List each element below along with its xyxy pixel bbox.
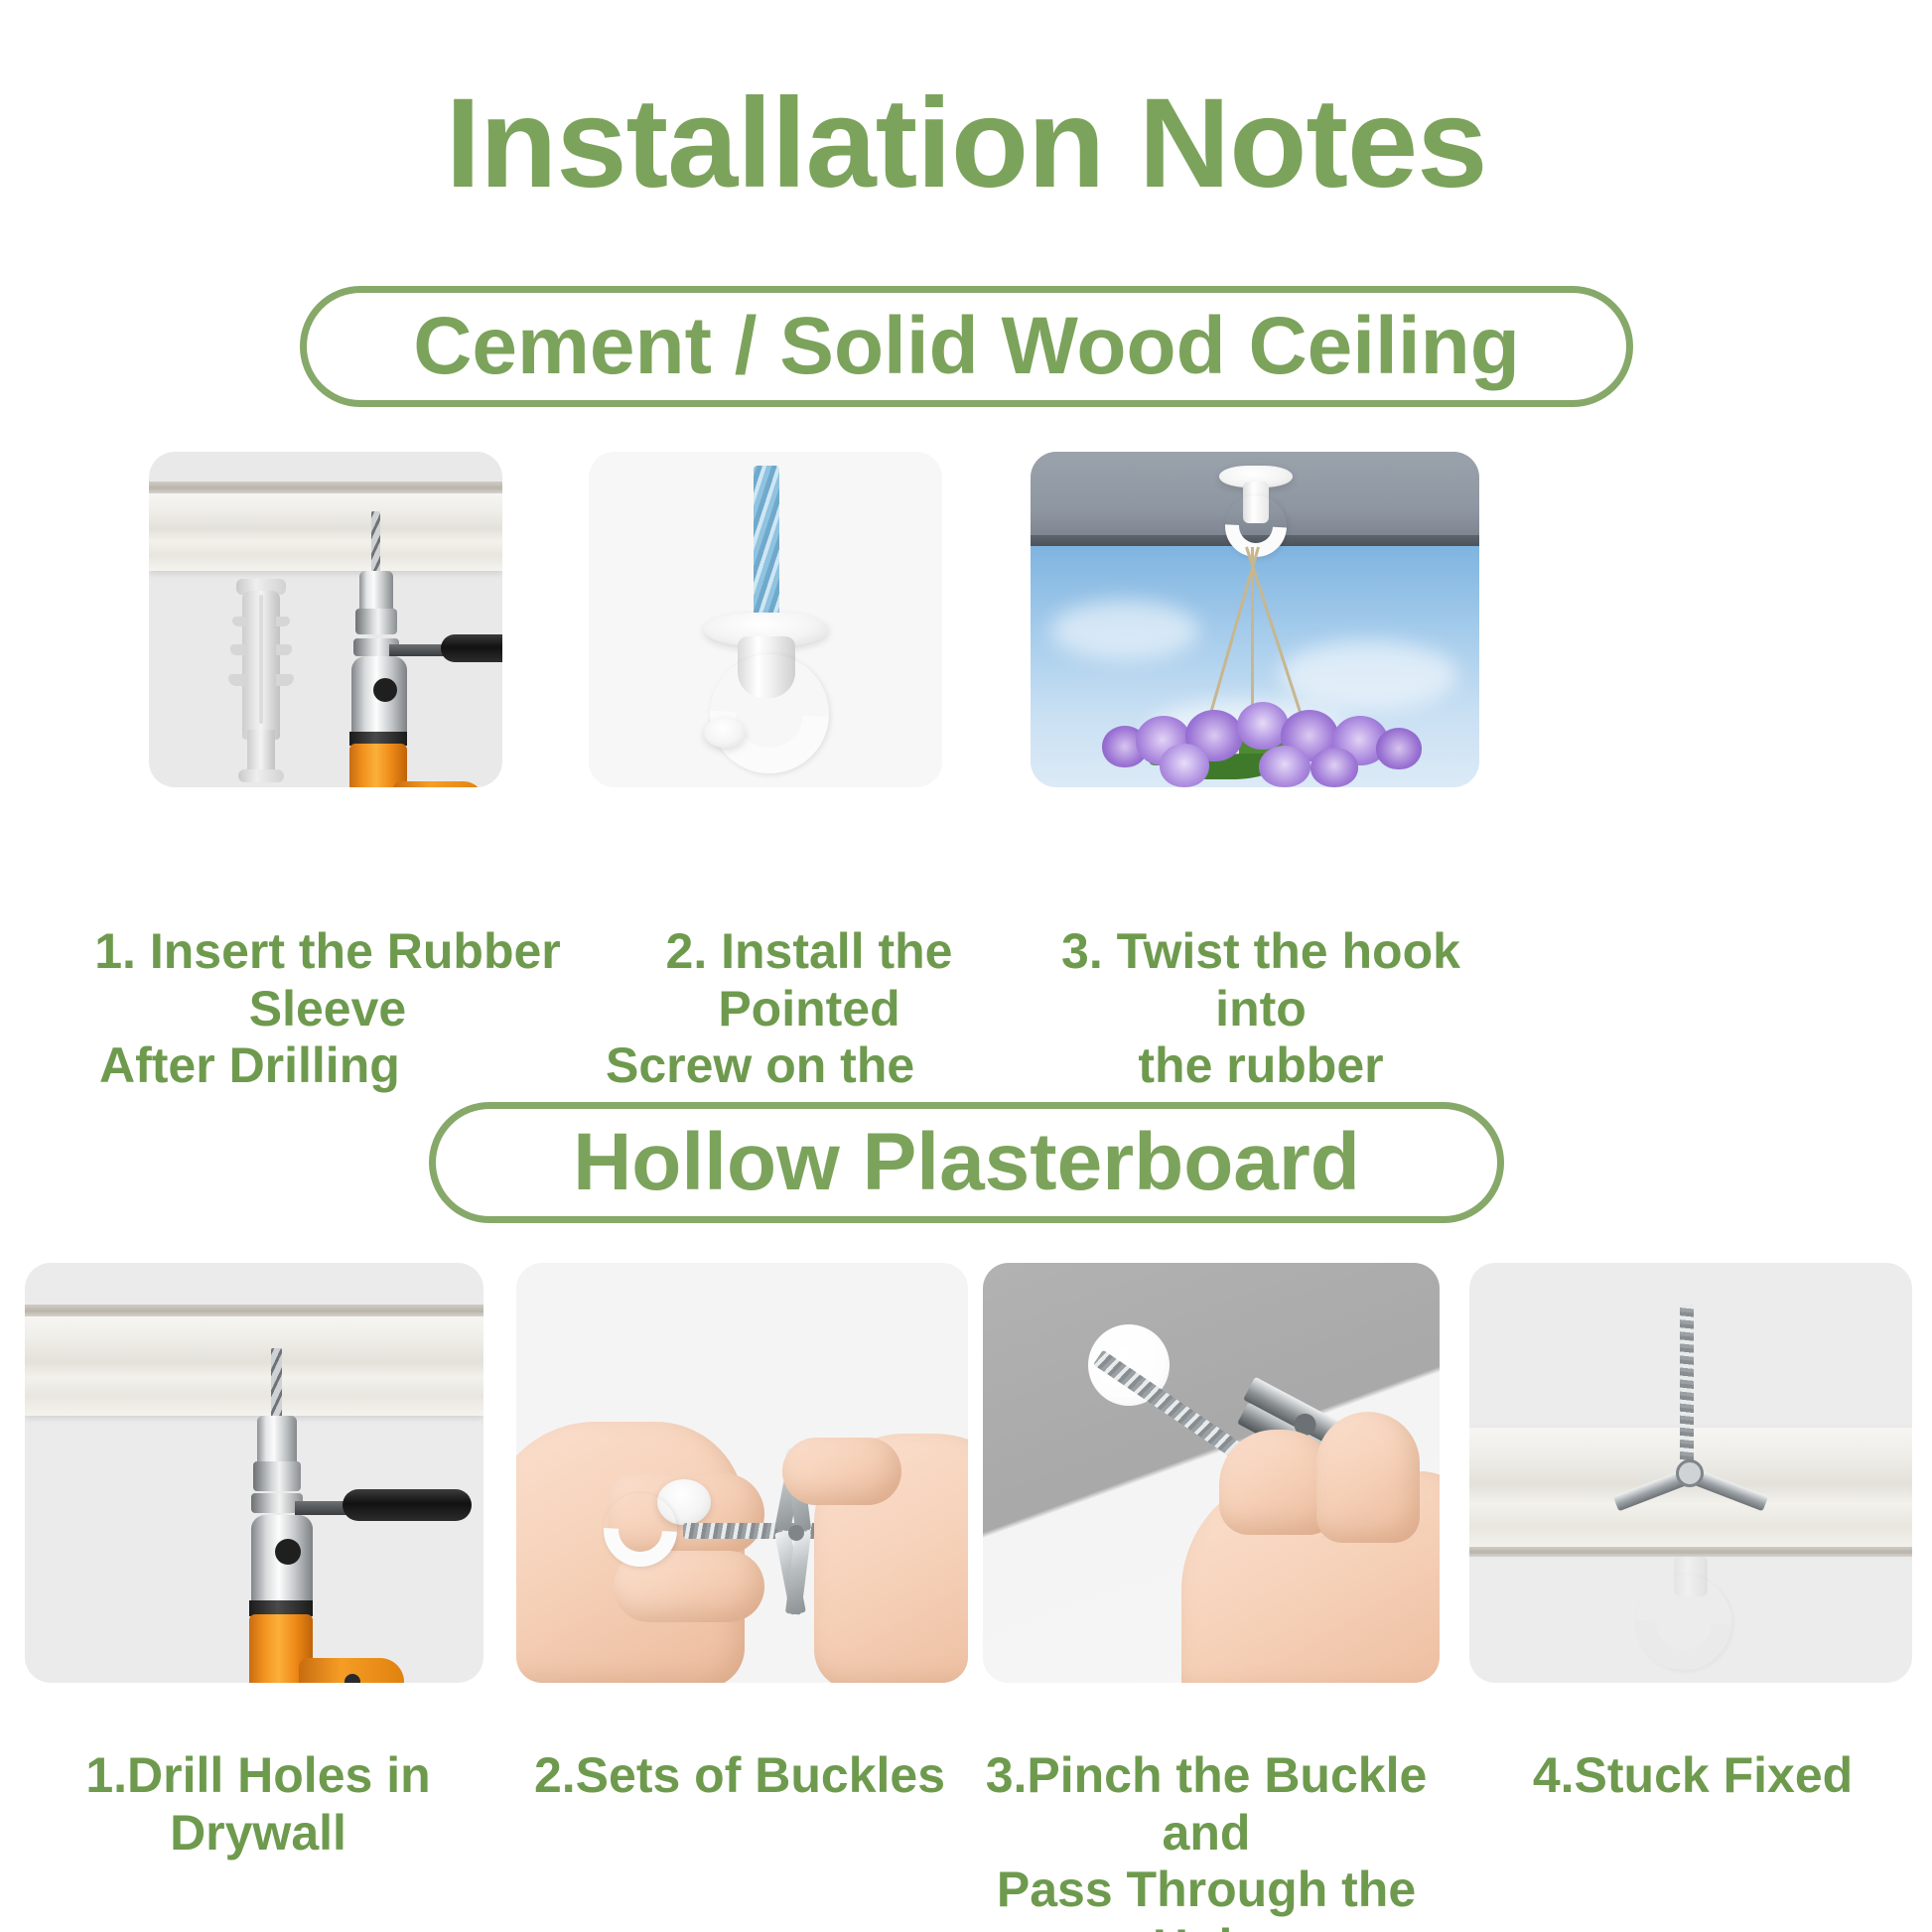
- step-image-cement-3: [1031, 452, 1479, 787]
- section-banner-label: Hollow Plasterboard: [573, 1122, 1360, 1203]
- electric-drill: [316, 511, 502, 787]
- hook-curve: [685, 629, 853, 787]
- step-caption-plasterboard-1: 1.Drill Holes in Drywall: [0, 1747, 516, 1862]
- installation-notes-infographic: Installation Notes Cement / Solid Wood C…: [0, 0, 1932, 1932]
- drill-side-handle: [343, 1489, 472, 1521]
- page-title: Installation Notes: [0, 77, 1932, 210]
- caption-line: 4.Stuck Fixed: [1459, 1747, 1926, 1805]
- toggle-wings-open: [1610, 1453, 1769, 1501]
- ghost-hook: [1626, 1557, 1775, 1674]
- caption-line: 2.Sets of Buckles: [516, 1747, 963, 1805]
- caption-line: the rubber: [1033, 1037, 1489, 1095]
- step-image-plasterboard-4: [1469, 1263, 1912, 1683]
- right-index-finger: [782, 1438, 901, 1505]
- section-banner-cement-solid-wood: Cement / Solid Wood Ceiling: [300, 286, 1633, 407]
- step-image-cement-2: [589, 452, 942, 787]
- drill-motor-dot: [373, 678, 397, 702]
- ceiling-edge: [149, 482, 502, 493]
- rubber-sleeve-anchor: [230, 579, 292, 782]
- drill-motor-dot: [275, 1539, 301, 1565]
- caption-line: 1.Drill Holes in Drywall: [0, 1747, 516, 1862]
- section-banner-label: Cement / Solid Wood Ceiling: [413, 306, 1520, 387]
- step-caption-plasterboard-3: 3.Pinch the Buckle and Pass Through the …: [968, 1747, 1445, 1932]
- step-caption-cement-1: 1. Insert the Rubber Sleeve After Drilli…: [69, 923, 586, 1095]
- hanging-flower-basket: [1090, 696, 1428, 787]
- caption-line: 3. Twist the hook into: [1033, 923, 1489, 1037]
- step-caption-plasterboard-2: 2.Sets of Buckles: [516, 1747, 963, 1805]
- index-finger: [1316, 1412, 1420, 1543]
- step-image-cement-1: [149, 452, 502, 787]
- pointed-screw: [754, 466, 779, 622]
- section-banner-hollow-plasterboard: Hollow Plasterboard: [429, 1102, 1504, 1223]
- caption-line: 3.Pinch the Buckle and: [968, 1747, 1445, 1862]
- step-image-plasterboard-1: [25, 1263, 483, 1683]
- step-caption-plasterboard-4: 4.Stuck Fixed: [1459, 1747, 1926, 1805]
- drill-side-handle-stem: [389, 644, 447, 656]
- drill-side-handle: [441, 634, 502, 662]
- caption-line: After Drilling: [69, 1037, 586, 1095]
- electric-drill: [213, 1334, 483, 1682]
- caption-line: 2. Install the Pointed: [586, 923, 1033, 1037]
- step-image-plasterboard-3: [983, 1263, 1440, 1683]
- step-caption-cement-3: 3. Twist the hook into the rubber: [1033, 923, 1489, 1095]
- board-bottom-edge: [1469, 1547, 1912, 1557]
- ceiling-edge: [25, 1305, 483, 1316]
- caption-line: 1. Insert the Rubber Sleeve: [69, 923, 586, 1037]
- hook-tip: [704, 718, 746, 748]
- step-image-plasterboard-2: [516, 1263, 968, 1683]
- caption-line: Pass Through the Hole: [968, 1862, 1445, 1932]
- drill-trigger-grip: [393, 781, 484, 787]
